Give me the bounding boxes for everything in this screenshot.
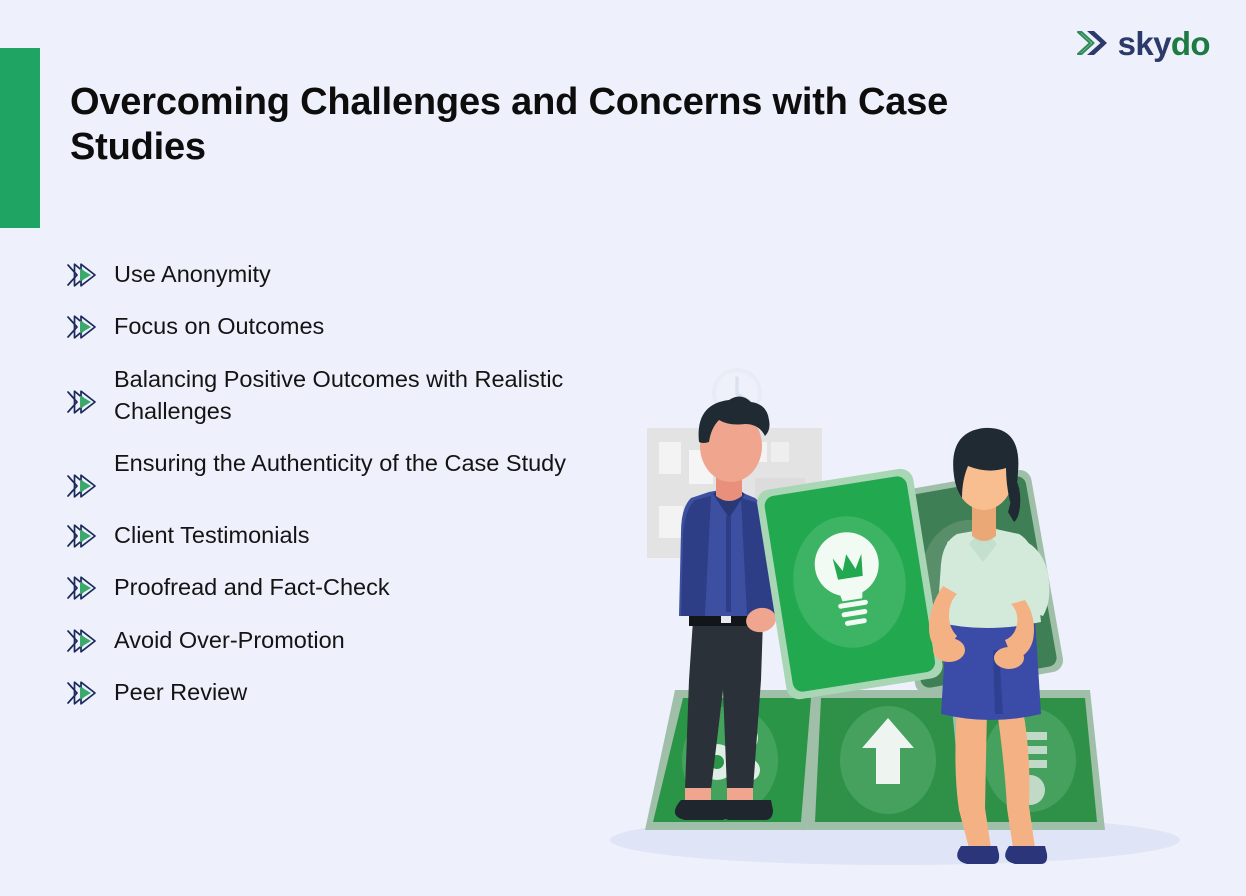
bullet-list: Use Anonymity Focus on Outcomes [66, 258, 626, 728]
list-item[interactable]: Client Testimonials [66, 519, 626, 551]
list-item-label: Peer Review [114, 676, 247, 708]
logo-wordmark: skydo [1118, 27, 1210, 60]
list-item-label: Client Testimonials [114, 519, 309, 551]
chevron-bullet-icon [66, 679, 104, 707]
list-item-label: Ensuring the Authenticity of the Case St… [114, 447, 566, 479]
chevron-bullet-icon [66, 388, 104, 416]
chevron-bullet-icon [66, 313, 104, 341]
list-item-label: Proofread and Fact-Check [114, 571, 390, 603]
logo-word-do: do [1171, 25, 1210, 62]
accent-bar [0, 48, 40, 228]
list-item-label: Avoid Over-Promotion [114, 624, 345, 656]
slide-canvas: skydo Overcoming Challenges and Concerns… [0, 0, 1246, 896]
list-item-label: Focus on Outcomes [114, 310, 324, 342]
list-item[interactable]: Use Anonymity [66, 258, 626, 290]
list-item[interactable]: Peer Review [66, 676, 626, 708]
list-item[interactable]: Balancing Positive Outcomes with Realist… [66, 363, 626, 428]
teamwork-presentation-illustration [585, 350, 1225, 880]
list-item[interactable]: Ensuring the Authenticity of the Case St… [66, 447, 626, 500]
green-card-lightbulb [755, 467, 944, 701]
page-title: Overcoming Challenges and Concerns with … [70, 80, 1090, 170]
list-item-label: Balancing Positive Outcomes with Realist… [114, 363, 614, 428]
chevron-bullet-icon [66, 472, 104, 500]
list-item[interactable]: Focus on Outcomes [66, 310, 626, 342]
double-chevron-icon [1075, 26, 1109, 60]
chevron-bullet-icon [66, 522, 104, 550]
skydo-logo[interactable]: skydo [1075, 26, 1210, 60]
logo-word-sky: sky [1118, 25, 1171, 62]
chevron-bullet-icon [66, 627, 104, 655]
chevron-bullet-icon [66, 574, 104, 602]
list-item-label: Use Anonymity [114, 258, 271, 290]
chevron-bullet-icon [66, 261, 104, 289]
list-item[interactable]: Proofread and Fact-Check [66, 571, 626, 603]
list-item[interactable]: Avoid Over-Promotion [66, 624, 626, 656]
